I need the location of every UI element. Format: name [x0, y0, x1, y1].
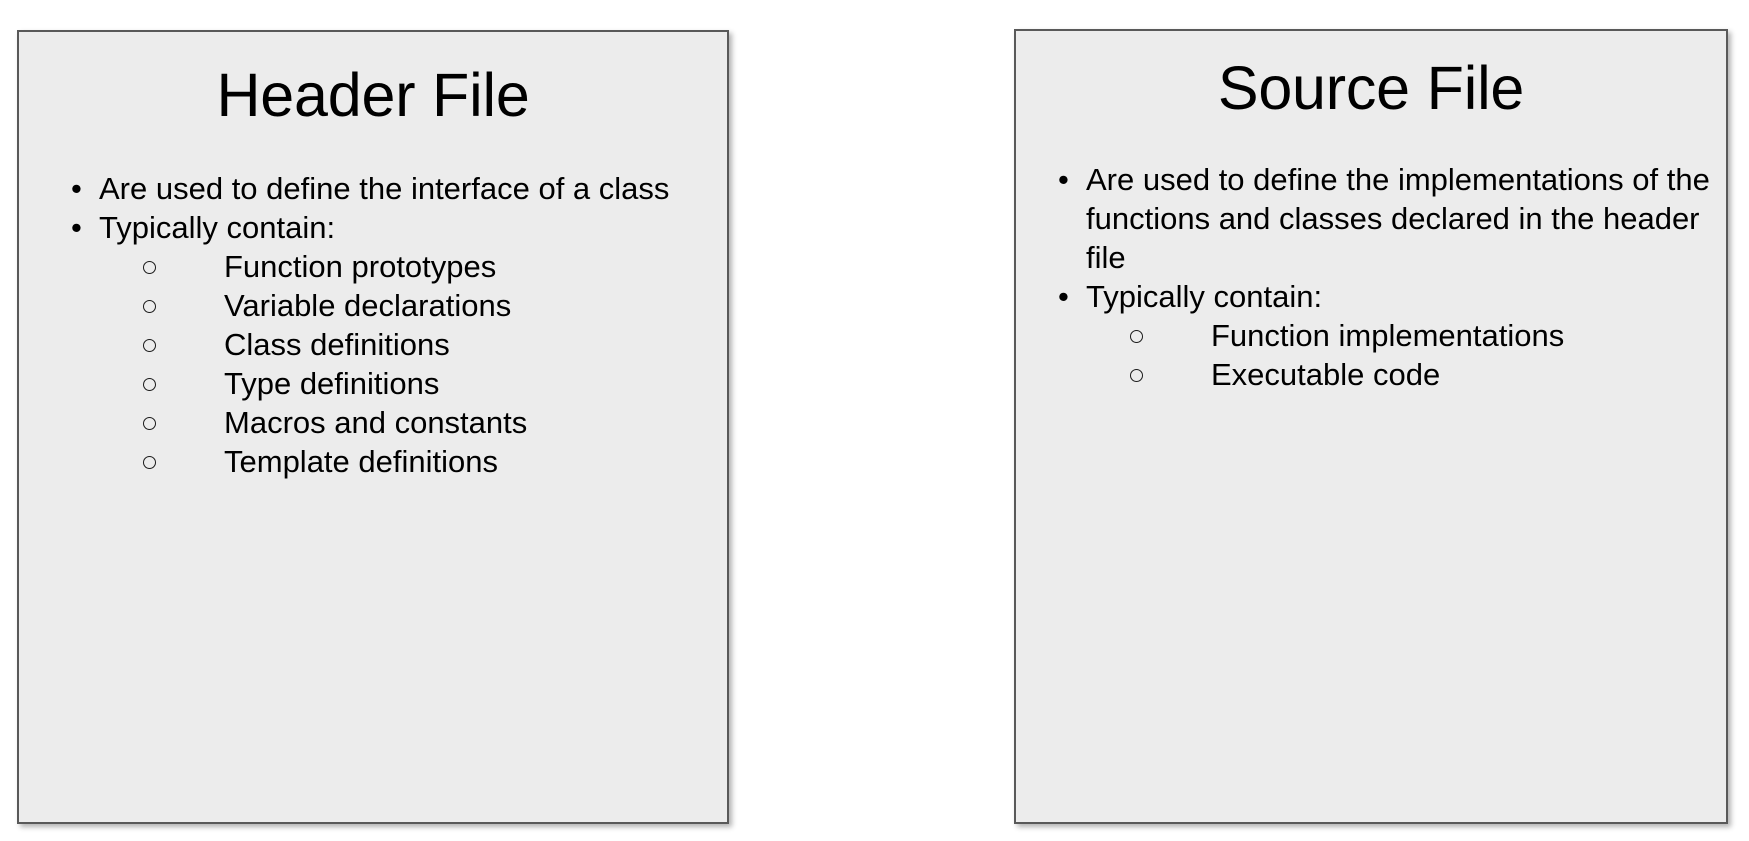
bullet-dot-icon: •: [1058, 160, 1069, 199]
bullet-list-source-file: • Are used to define the implementations…: [1016, 160, 1726, 394]
sub-bullet-text: Executable code: [1211, 355, 1712, 394]
hollow-circle-icon: [143, 417, 156, 430]
sub-bullet-item: Variable declarations: [71, 286, 701, 325]
hollow-circle-icon: [1130, 330, 1143, 343]
sub-bullet-item: Type definitions: [71, 364, 701, 403]
bullet-dot-icon: •: [71, 169, 82, 208]
sub-bullet-text: Function implementations: [1211, 316, 1712, 355]
panel-title-header-file: Header File: [19, 65, 727, 126]
sub-bullet-text: Function prototypes: [224, 247, 701, 286]
sub-bullet-list-header-file: Function prototypes Variable declaration…: [71, 247, 701, 481]
sub-bullet-list-source-file: Function implementations Executable code: [1058, 316, 1712, 394]
panel-source-file: Source File • Are used to define the imp…: [1014, 29, 1728, 824]
bullet-list-header-file: • Are used to define the interface of a …: [19, 169, 727, 481]
slide-canvas: Header File • Are used to define the int…: [0, 0, 1749, 841]
sub-bullet-text: Macros and constants: [224, 403, 701, 442]
bullet-item: • Are used to define the interface of a …: [71, 169, 701, 208]
sub-bullet-item: Function implementations: [1058, 316, 1712, 355]
bullet-dot-icon: •: [1058, 277, 1069, 316]
bullet-text: Typically contain:: [1086, 277, 1712, 316]
hollow-circle-icon: [143, 300, 156, 313]
sub-bullet-item: Function prototypes: [71, 247, 701, 286]
hollow-circle-icon: [1130, 369, 1143, 382]
panel-title-source-file: Source File: [1016, 58, 1726, 119]
bullet-item: • Are used to define the implementations…: [1058, 160, 1712, 277]
panel-header-file: Header File • Are used to define the int…: [17, 30, 729, 824]
bullet-dot-icon: •: [71, 208, 82, 247]
sub-bullet-item: Executable code: [1058, 355, 1712, 394]
sub-bullet-item: Template definitions: [71, 442, 701, 481]
sub-bullet-text: Template definitions: [224, 442, 701, 481]
hollow-circle-icon: [143, 456, 156, 469]
bullet-text: Are used to define the interface of a cl…: [99, 169, 701, 208]
bullet-text: Are used to define the implementations o…: [1086, 160, 1712, 277]
sub-bullet-item: Class definitions: [71, 325, 701, 364]
bullet-item: • Typically contain:: [1058, 277, 1712, 316]
bullet-text: Typically contain:: [99, 208, 701, 247]
hollow-circle-icon: [143, 339, 156, 352]
sub-bullet-text: Type definitions: [224, 364, 701, 403]
sub-bullet-text: Class definitions: [224, 325, 701, 364]
bullet-item: • Typically contain:: [71, 208, 701, 247]
hollow-circle-icon: [143, 378, 156, 391]
sub-bullet-item: Macros and constants: [71, 403, 701, 442]
sub-bullet-text: Variable declarations: [224, 286, 701, 325]
hollow-circle-icon: [143, 261, 156, 274]
